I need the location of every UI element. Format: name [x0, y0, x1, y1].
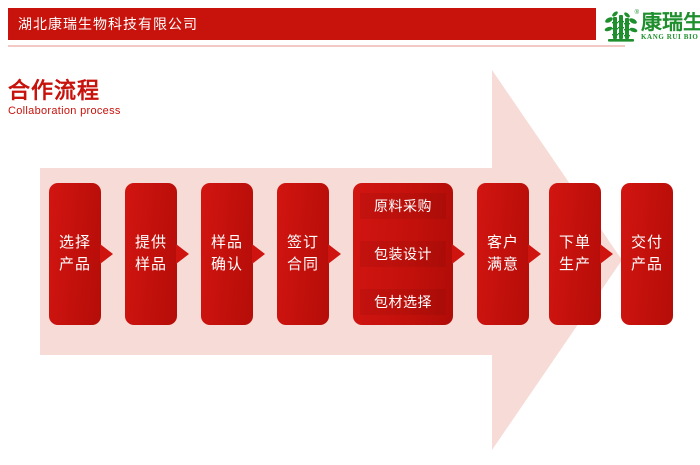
process-step-2[interactable]: 提供 样品	[125, 183, 177, 325]
step-arrow-icon-3	[252, 244, 265, 264]
step-line: 交付	[631, 232, 663, 254]
step-line: 满意	[487, 254, 519, 276]
step-arrow-icon-6	[528, 244, 541, 264]
step-line: 包装设计	[360, 241, 446, 267]
step-line: 合同	[287, 254, 319, 276]
header-divider-rule	[8, 45, 625, 47]
logo-text: 康瑞生 KANG RUI BIO	[641, 12, 700, 42]
company-logo: ® 康瑞生 KANG RUI BIO	[604, 6, 700, 48]
step-arrow-icon-1	[100, 244, 113, 264]
step-arrow-icon-2	[176, 244, 189, 264]
logo-chinese-name: 康瑞生	[641, 12, 700, 34]
registered-trademark-icon: ®	[635, 10, 639, 16]
page-title: 合作流程	[8, 78, 121, 103]
step-line: 提供	[135, 232, 167, 254]
logo-english-name: KANG RUI BIO	[641, 34, 700, 42]
process-step-4[interactable]: 签订 合同	[277, 183, 329, 325]
step-arrow-icon-7	[600, 244, 613, 264]
step-line: 产品	[59, 254, 91, 276]
bamboo-emblem-icon: ®	[604, 10, 638, 44]
step-arrow-icon-4	[328, 244, 341, 264]
process-step-1[interactable]: 选择 产品	[49, 183, 101, 325]
process-step-7[interactable]: 下单 生产	[549, 183, 601, 325]
step-line: 包材选择	[360, 289, 446, 315]
process-step-5[interactable]: 原料采购 包装设计 包材选择	[353, 183, 453, 325]
step-line: 原料采购	[360, 193, 446, 219]
step-line: 生产	[559, 254, 591, 276]
step-line: 样品	[211, 232, 243, 254]
process-step-3[interactable]: 样品 确认	[201, 183, 253, 325]
step-line: 样品	[135, 254, 167, 276]
process-step-6[interactable]: 客户 满意	[477, 183, 529, 325]
company-name: 湖北康瑞生物科技有限公司	[8, 14, 198, 34]
step-line: 签订	[287, 232, 319, 254]
step-line: 客户	[487, 232, 519, 254]
process-step-8[interactable]: 交付 产品	[621, 183, 673, 325]
title-block: 合作流程 Collaboration process	[8, 78, 121, 117]
page-subtitle: Collaboration process	[8, 105, 121, 117]
step-arrow-icon-5	[452, 244, 465, 264]
step-line: 下单	[559, 232, 591, 254]
step-line: 选择	[59, 232, 91, 254]
header-bar: 湖北康瑞生物科技有限公司	[8, 8, 596, 40]
step-line: 产品	[631, 254, 663, 276]
step-line: 确认	[211, 254, 243, 276]
